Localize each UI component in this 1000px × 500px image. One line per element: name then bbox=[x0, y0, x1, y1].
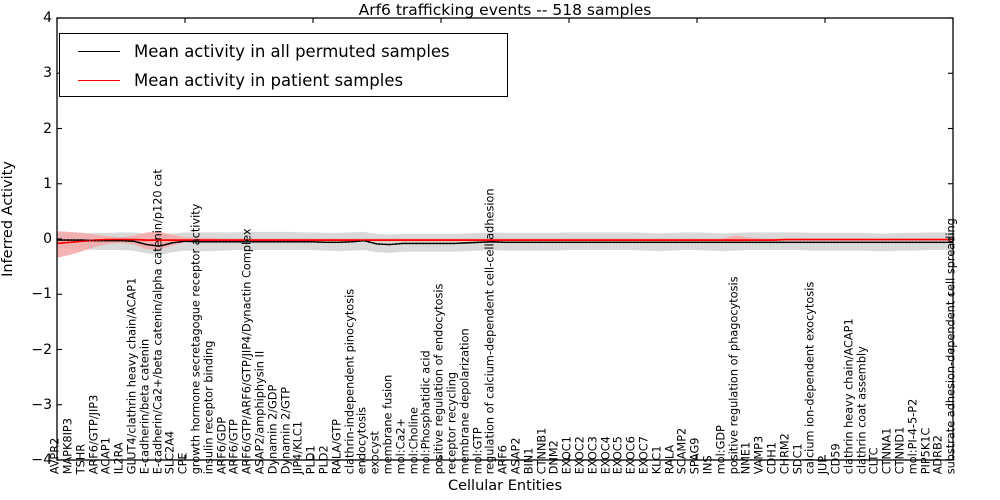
legend-entry-permuted: Mean activity in all permuted samples bbox=[70, 36, 450, 66]
x-axis-label: Cellular Entities bbox=[57, 478, 953, 494]
chart-figure: Arf6 trafficking events -- 518 samples I… bbox=[0, 0, 1000, 500]
legend-label-patient: Mean activity in patient samples bbox=[134, 71, 403, 90]
legend-line-swatch-permuted bbox=[78, 51, 120, 52]
legend-label-permuted: Mean activity in all permuted samples bbox=[134, 42, 450, 61]
chart-legend: Mean activity in all permuted samples Me… bbox=[59, 33, 508, 97]
legend-entry-patient: Mean activity in patient samples bbox=[70, 65, 403, 95]
legend-line-swatch-patient bbox=[78, 80, 120, 81]
